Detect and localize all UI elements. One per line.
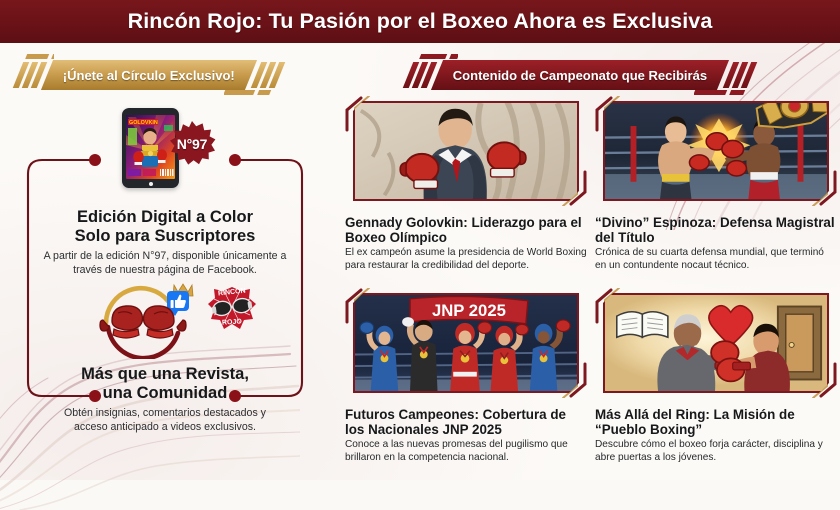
- card-image: [603, 293, 829, 393]
- card-thumbnail: [595, 288, 837, 398]
- ribbon-slashes-left-end: [256, 60, 280, 90]
- card-title: Más Allá del Ring: La Misión de “Pueblo …: [595, 407, 837, 437]
- card-image-art-mentor: [605, 295, 827, 391]
- card-image-art-golovkin: [355, 103, 577, 199]
- jnp-banner-text: JNP 2025: [432, 302, 506, 320]
- card-thumbnail: [345, 96, 587, 206]
- ribbon-plate-left: ¡Únete al Círculo Exclusivo!: [41, 60, 257, 90]
- community-icons-art: RINCON ROJO: [88, 277, 263, 359]
- issue-number-badge: N°97: [168, 120, 216, 168]
- card-body: Conoce a las nuevas promesas del pugilis…: [345, 439, 587, 464]
- card-body: Descubre cómo el boxeo forja carácter, d…: [595, 439, 837, 464]
- card-image-art-jnp: JNP 2025: [355, 295, 577, 391]
- rincon-rojo-logo: RINCON ROJO: [208, 287, 256, 329]
- card-thumbnail: JNP 2025: [345, 288, 587, 398]
- svg-text:ROJO: ROJO: [222, 318, 243, 326]
- content-cards-grid: Gennady Golovkin: Liderazgo para el Boxe…: [340, 96, 840, 480]
- card-body: Crónica de su cuarta defensa mundial, qu…: [595, 247, 837, 272]
- card-image: JNP 2025: [353, 293, 579, 393]
- card-body: El ex campeón asume la presidencia de Wo…: [345, 247, 587, 272]
- card-title: Gennady Golovkin: Liderazgo para el Boxe…: [345, 215, 587, 245]
- feature-block-2-heading-line1: Más que una Revista,: [81, 365, 249, 383]
- feature-block-community: Más que una Revista, una Comunidad Obtén…: [15, 365, 315, 434]
- ribbon-plate-right: Contenido de Campeonato que Recibirás: [431, 60, 729, 90]
- card-title: Futuros Campeones: Cobertura de los Naci…: [345, 407, 587, 437]
- header-banner: Rincón Rojo: Tu Pasión por el Boxeo Ahor…: [0, 0, 840, 43]
- svg-text:GOLOVKIN: GOLOVKIN: [129, 120, 158, 126]
- card-image: [603, 101, 829, 201]
- tablet-home-button: [149, 182, 153, 186]
- feature-block-1-heading-line1: Edición Digital a Color: [77, 208, 253, 226]
- card-image-art-fight: [605, 103, 827, 199]
- poster-root: Rincón Rojo: Tu Pasión por el Boxeo Ahor…: [0, 0, 840, 480]
- content-card[interactable]: “Divino” Espinoza: Defensa Magistral del…: [595, 96, 837, 273]
- content-card[interactable]: Más Allá del Ring: La Misión de “Pueblo …: [595, 288, 837, 465]
- content-card[interactable]: JNP 2025: [345, 288, 587, 465]
- page-title: Rincón Rojo: Tu Pasión por el Boxeo Ahor…: [128, 9, 713, 34]
- ribbon-slashes-right: [408, 60, 432, 90]
- feature-block-1-heading-line2: Solo para Suscriptores: [75, 227, 256, 245]
- issue-number-label: N°97: [168, 120, 216, 168]
- card-image: [353, 101, 579, 201]
- ribbon-slashes-left: [18, 60, 42, 90]
- feature-block-2-heading-line2: una Comunidad: [103, 384, 228, 402]
- connector-node-1: [89, 154, 101, 166]
- feature-block-1-heading: Edición Digital a Color Solo para Suscri…: [15, 208, 315, 246]
- section-header-left-label: ¡Únete al Círculo Exclusivo!: [63, 68, 235, 83]
- ribbon-slashes-right-end: [728, 60, 752, 90]
- feature-block-2-heading: Más que una Revista, una Comunidad: [15, 365, 315, 403]
- connector-node-2: [229, 154, 241, 166]
- feature-block-1-body: A partir de la edición N°97, disponible …: [15, 249, 315, 277]
- content-card[interactable]: Gennady Golovkin: Liderazgo para el Boxe…: [345, 96, 587, 273]
- community-icons-group: RINCON ROJO: [88, 277, 263, 359]
- card-title: “Divino” Espinoza: Defensa Magistral del…: [595, 215, 837, 245]
- feature-block-digital-edition: Edición Digital a Color Solo para Suscri…: [15, 208, 315, 277]
- feature-block-2-body: Obtén insignias, comentarios destacados …: [15, 406, 315, 434]
- section-header-right: Contenido de Campeonato que Recibirás: [408, 60, 752, 90]
- section-header-right-label: Contenido de Campeonato que Recibirás: [453, 68, 707, 83]
- left-column: GOLOVKIN: [0, 90, 330, 475]
- section-header-left: ¡Únete al Círculo Exclusivo!: [18, 60, 280, 90]
- book-icon: [617, 312, 668, 338]
- card-thumbnail: [595, 96, 837, 206]
